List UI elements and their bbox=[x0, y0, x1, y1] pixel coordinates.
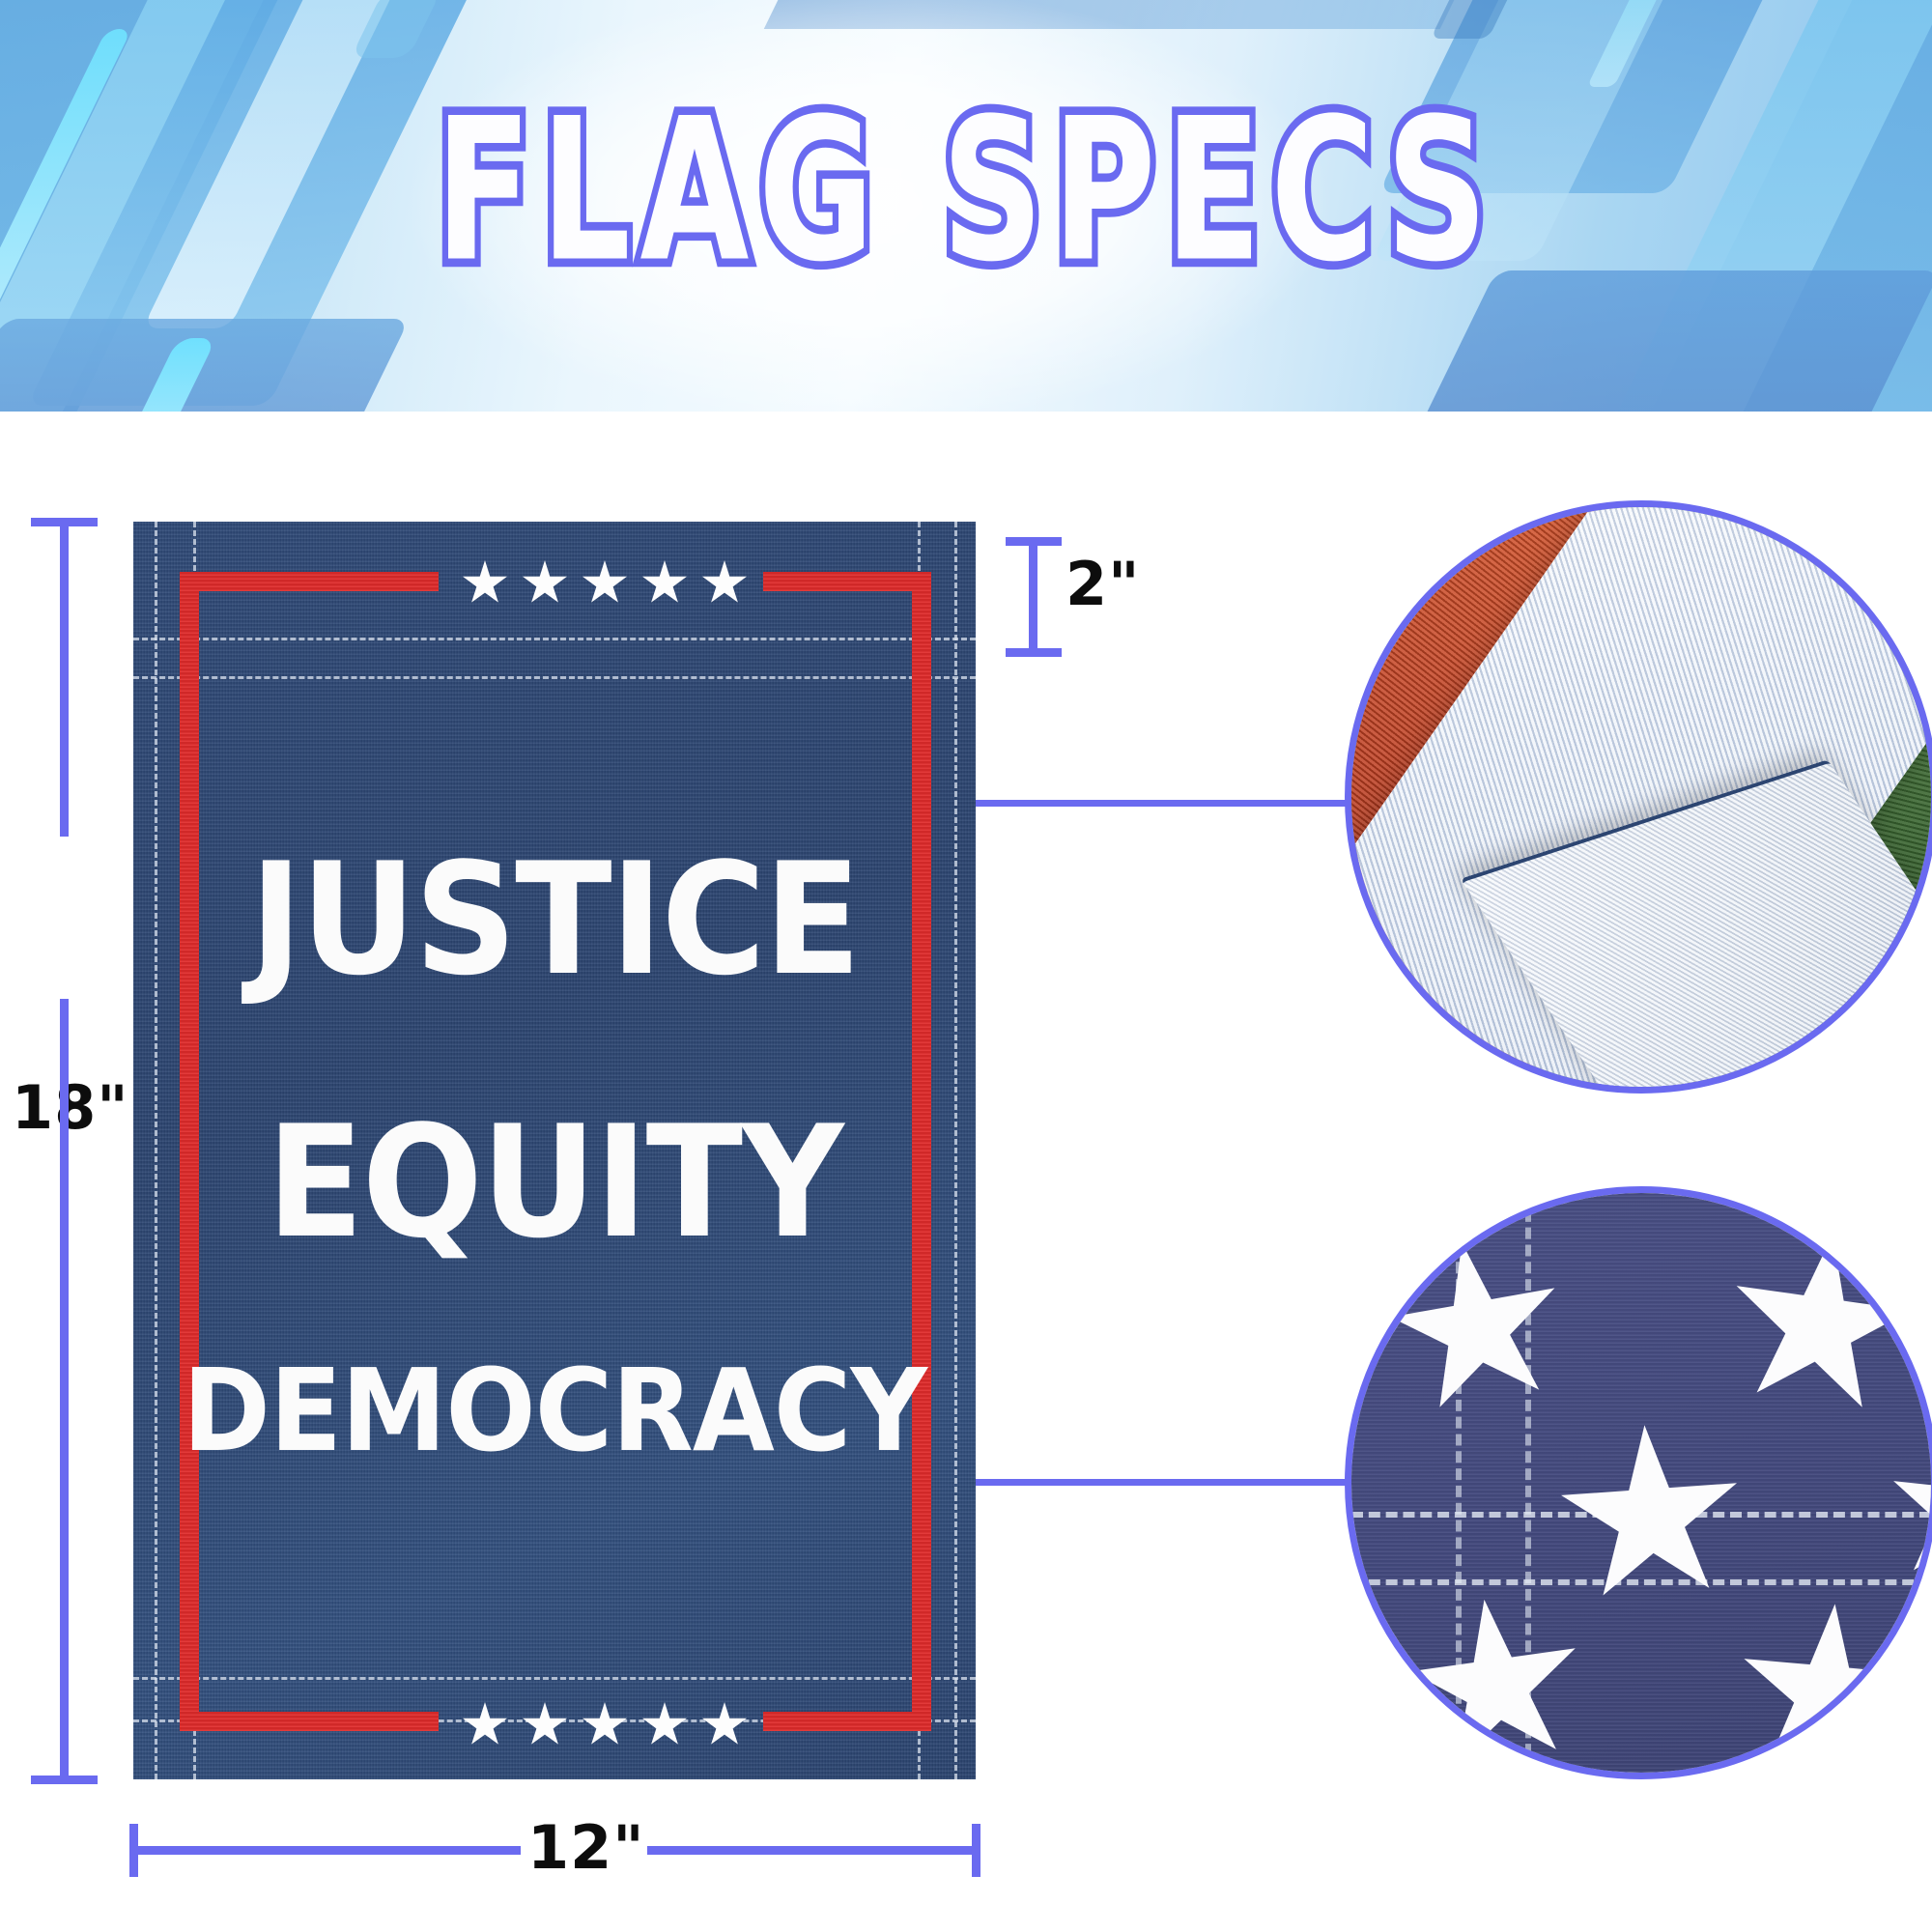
dimension-height-label: 18" bbox=[12, 1072, 129, 1143]
dimension-pocket-line bbox=[1029, 541, 1037, 657]
dimension-width-label: 12" bbox=[527, 1812, 645, 1883]
dimension-height-line-lower bbox=[60, 999, 69, 1783]
star-icon bbox=[641, 1702, 688, 1748]
detail-stitch-horizontal-2 bbox=[1351, 1579, 1931, 1585]
spec-sheet: FLAG SPECS bbox=[0, 0, 1932, 1932]
flag-text-line-2: EQUITY bbox=[167, 1111, 942, 1253]
stitch-line-bottom-inner bbox=[133, 1677, 976, 1680]
flag-text-line-1: JUSTICE bbox=[167, 848, 942, 990]
flag-border-bottom-right bbox=[763, 1712, 931, 1731]
leader-line-fabric-detail bbox=[976, 800, 1362, 807]
star-icon bbox=[522, 1702, 568, 1748]
dimension-height-cap-bottom bbox=[31, 1776, 98, 1784]
page-title: FLAG SPECS bbox=[39, 93, 1893, 290]
stitch-line-left-outer bbox=[155, 522, 157, 1779]
dimension-width-cap-right bbox=[972, 1824, 980, 1877]
flag-border-top-right bbox=[763, 572, 931, 591]
dimension-height-line-upper bbox=[60, 518, 69, 837]
detail-circle-star-field bbox=[1345, 1186, 1932, 1779]
flag-artwork: JUSTICE EQUITY DEMOCRACY bbox=[133, 522, 976, 1779]
flag-border-top-left bbox=[180, 572, 439, 591]
star-icon bbox=[641, 560, 688, 607]
star-icon bbox=[462, 560, 508, 607]
star-icon bbox=[462, 1702, 508, 1748]
star-icon bbox=[701, 1702, 748, 1748]
leader-line-star-detail bbox=[976, 1479, 1381, 1486]
stitch-line-top-inner bbox=[133, 676, 976, 679]
dimension-pocket-label: 2" bbox=[1065, 549, 1140, 619]
detail-circle-fabric-layers bbox=[1345, 500, 1932, 1094]
dimension-pocket-cap-bottom bbox=[1006, 648, 1062, 657]
flag-border-bottom-left bbox=[180, 1712, 439, 1731]
stitch-line-right-outer bbox=[954, 522, 957, 1779]
star-row-bottom bbox=[440, 1702, 769, 1748]
star-row-top bbox=[440, 560, 769, 607]
star-icon bbox=[582, 560, 628, 607]
star-icon bbox=[522, 560, 568, 607]
star-icon bbox=[701, 560, 748, 607]
header-banner: FLAG SPECS bbox=[0, 0, 1932, 412]
stitch-line-top-outer bbox=[133, 638, 976, 640]
flag-text-line-3: DEMOCRACY bbox=[163, 1358, 947, 1463]
star-icon bbox=[582, 1702, 628, 1748]
dimension-width-line-right bbox=[647, 1846, 980, 1855]
dimension-width-line-left bbox=[129, 1846, 521, 1855]
